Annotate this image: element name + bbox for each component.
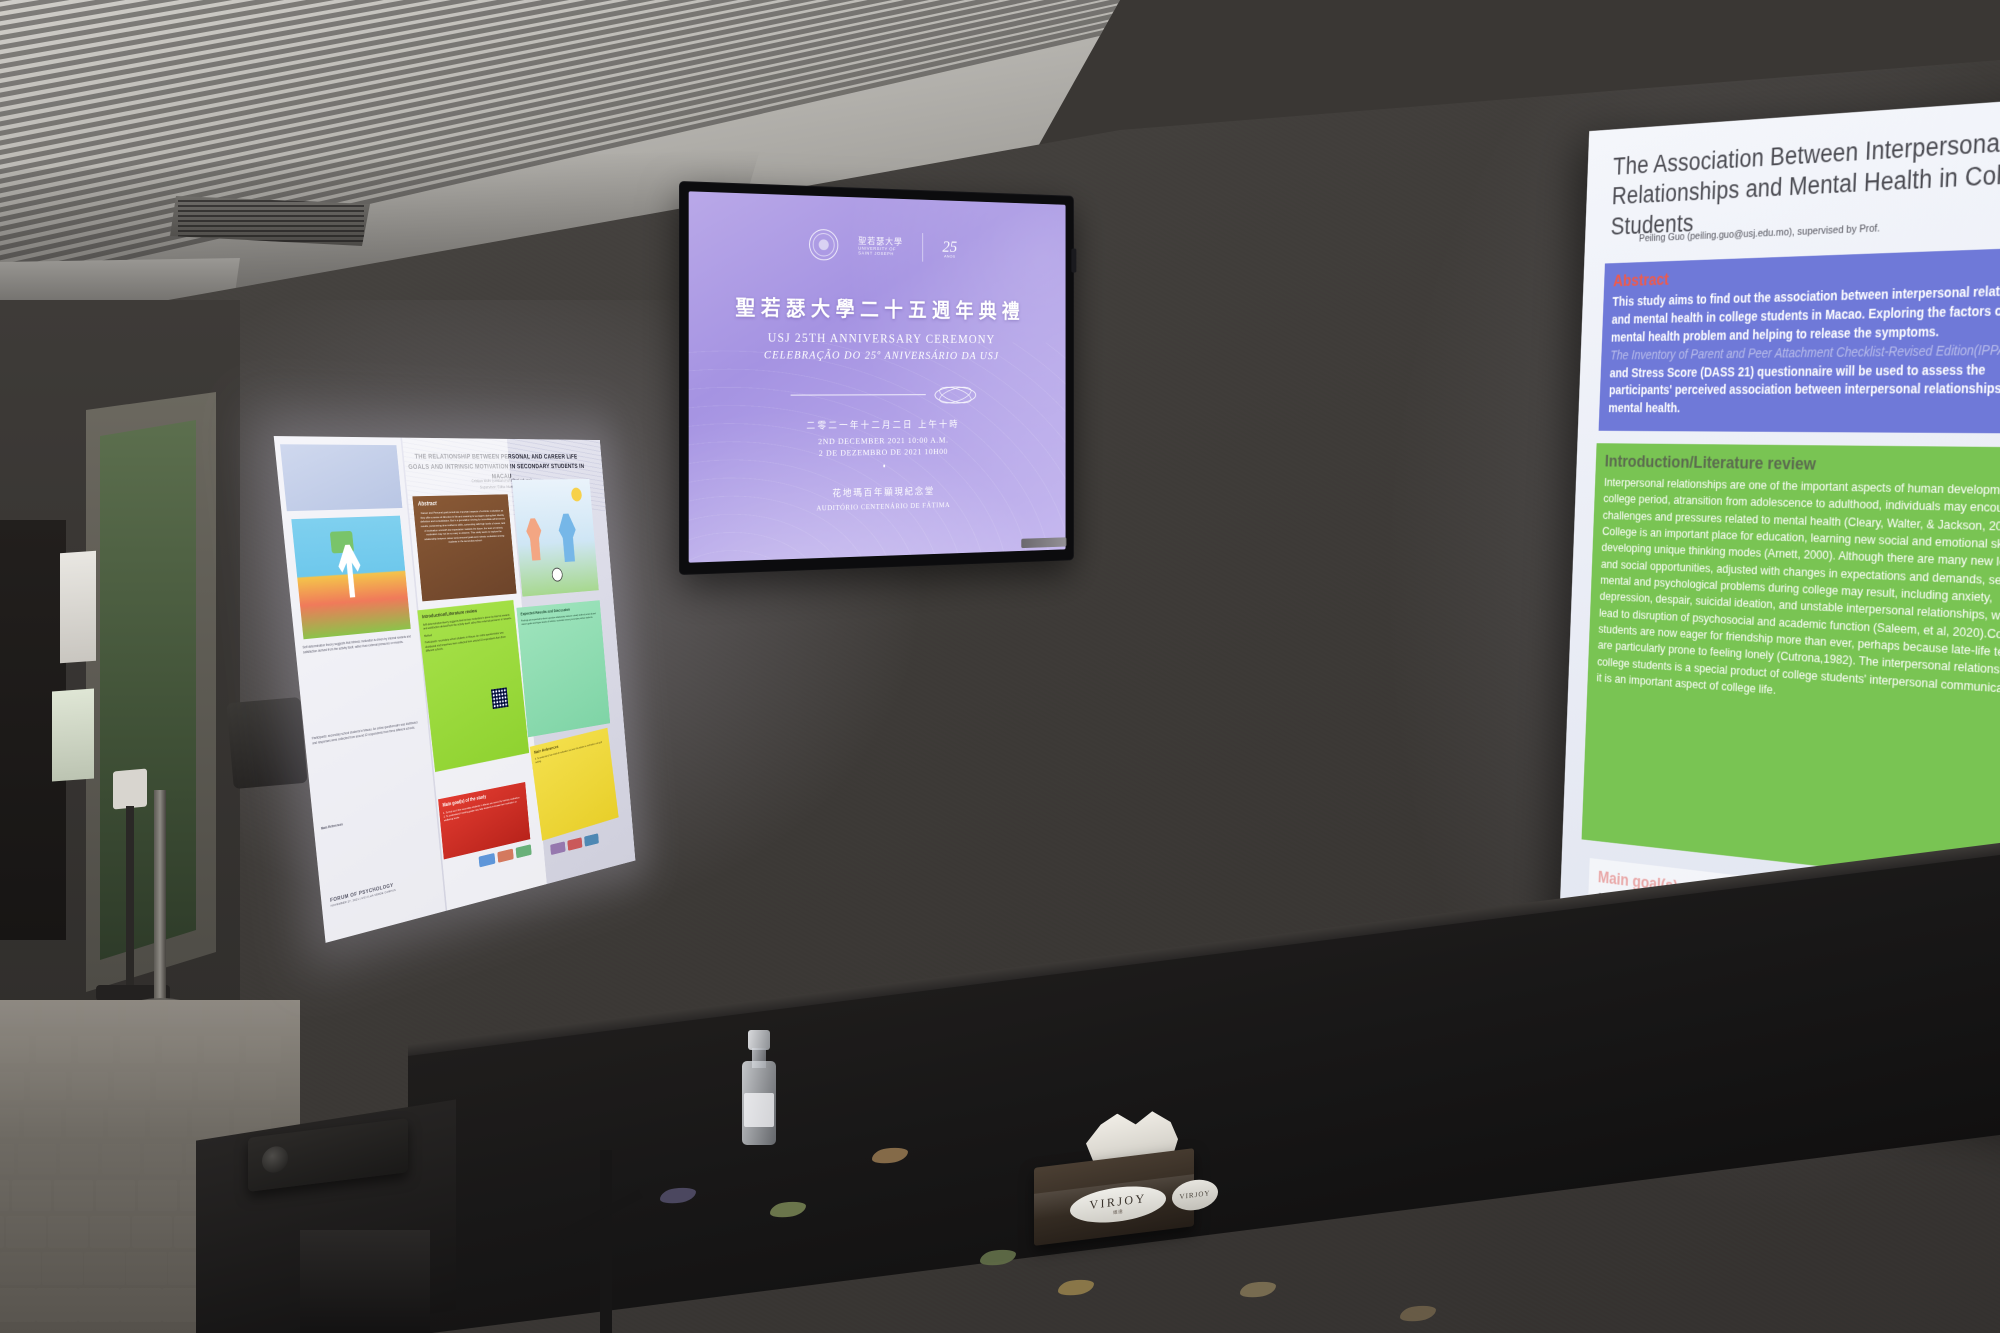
bottle-cap <box>748 1030 770 1050</box>
person-celebrating-illustration <box>291 516 410 640</box>
green-square-icon <box>330 531 354 554</box>
floor-tile <box>84 1000 118 1026</box>
floor-tile <box>6 1216 46 1248</box>
slide-title-en: USJ 25TH ANNIVERSARY CEREMONY <box>689 330 1066 347</box>
tv-brand-badge <box>1021 537 1066 548</box>
floor-tile <box>114 1072 150 1100</box>
floor-tile <box>156 1072 192 1100</box>
usj-seal-icon <box>809 229 838 261</box>
floor-tile <box>138 1180 177 1211</box>
floor-tile <box>0 1072 24 1100</box>
tissue-brand-sub: 維達 <box>1113 1208 1123 1215</box>
anniversary-badge: 25 ANOS <box>942 238 957 258</box>
slide-date-cn: 二零二一年十二月二日 上午十時 <box>689 416 1066 433</box>
wall-speaker <box>226 697 307 789</box>
floor-tile <box>18 1144 56 1174</box>
floor-tile <box>0 1036 29 1063</box>
children-playing-illustration <box>512 479 599 597</box>
slide-date-block: 二零二一年十二月二日 上午十時 2ND DECEMBER 2021 10:00 … <box>689 416 1066 470</box>
floor-tile <box>102 1144 140 1174</box>
divider-rule <box>791 394 926 395</box>
bottle-label <box>744 1093 774 1127</box>
usj-name-en-2: SAINT JOSEPH <box>858 251 903 257</box>
floor-tile <box>0 1216 4 1248</box>
logo-icon-6 <box>584 833 599 846</box>
room-scene: THE RELATIONSHIP BETWEEN PERSONAL AND CA… <box>0 0 2000 1333</box>
right-abstract-body-2: and Stress Score (DASS 21) questionnaire… <box>1608 360 2000 419</box>
slide-title-cn: 聖若瑟大學二十五週年典禮 <box>689 291 1066 325</box>
football-icon <box>551 567 563 582</box>
tv-screen[interactable]: 聖若瑟大學 UNIVERSITY OF SAINT JOSEPH 25 ANOS… <box>689 191 1066 562</box>
vent-louver <box>178 235 364 237</box>
floor-tile <box>240 1072 276 1100</box>
slide-divider <box>689 386 1066 403</box>
stanchion-post <box>154 790 166 1005</box>
floor-tile <box>0 1144 14 1174</box>
flourish-ornament-icon <box>935 386 975 401</box>
floor-tile <box>0 1252 41 1285</box>
hand-sanitizer-bottle[interactable] <box>742 1030 776 1145</box>
wall-mounted-tv[interactable]: 聖若瑟大學 UNIVERSITY OF SAINT JOSEPH 25 ANOS… <box>680 182 1073 574</box>
child-figure-1 <box>525 518 544 561</box>
vent-louver <box>178 230 364 232</box>
floor-tile <box>78 1288 120 1322</box>
floor-tile <box>0 1108 19 1137</box>
poster-intro-panel: Introduction/Literature review Self dete… <box>417 600 529 772</box>
floor-tile <box>36 1036 71 1063</box>
floor-tile <box>90 1216 130 1248</box>
child-figure-2 <box>557 513 578 562</box>
floor-tile <box>192 1108 229 1137</box>
floor-tile <box>78 1036 113 1063</box>
logo-divider <box>922 233 923 262</box>
usj-wordmark: 聖若瑟大學 UNIVERSITY OF SAINT JOSEPH <box>858 236 903 257</box>
floor-tile <box>162 1036 197 1063</box>
floor-tile <box>48 1216 88 1248</box>
sanitizer-dispenser[interactable] <box>113 769 147 810</box>
floor-tile <box>24 1108 61 1137</box>
anniversary-number: 25 <box>942 238 957 255</box>
floor-tile <box>96 1180 135 1211</box>
right-abstract-panel: Abstract This study aims to find out the… <box>1599 246 2000 434</box>
vent-louver <box>178 210 364 212</box>
floor-tile <box>168 1000 202 1026</box>
anniversary-sub: ANOS <box>942 254 957 258</box>
tv-side-connector <box>1071 248 1076 272</box>
floor-tile <box>72 1072 108 1100</box>
floor-tile <box>0 1180 9 1211</box>
floor-tile <box>0 1288 36 1322</box>
sponsor-logos-row-2 <box>550 833 599 855</box>
poster-results-panel: Expected Results and Discussion Findings… <box>516 600 610 737</box>
vent-louver <box>178 205 364 207</box>
slide-title-pt: CELEBRAÇÃO DO 25º ANIVERSÁRIO DA USJ <box>689 349 1066 362</box>
dispenser-pole <box>126 806 134 996</box>
right-intro-panel: Introduction/Literature review Interpers… <box>1582 443 2000 892</box>
floor-tile <box>66 1108 103 1137</box>
chair[interactable] <box>300 1230 430 1333</box>
logo-icon-4 <box>550 841 565 855</box>
floor-tile <box>204 1036 239 1063</box>
floor-tile <box>126 1000 160 1026</box>
floor-tile <box>144 1144 182 1174</box>
floor-tile <box>0 1000 34 1026</box>
poster-blue-header-block <box>280 444 402 511</box>
projected-poster-left: THE RELATIONSHIP BETWEEN PERSONAL AND CA… <box>274 436 636 943</box>
logo-icon-5 <box>567 837 582 851</box>
floor-tile <box>42 1000 76 1026</box>
floor-tile <box>42 1252 83 1285</box>
vent-louver <box>178 215 364 217</box>
floor-tile <box>210 1000 244 1026</box>
floor-tile <box>150 1108 187 1137</box>
floor-tile <box>30 1072 66 1100</box>
green-door[interactable] <box>100 420 196 960</box>
poster-references-panel: Main References 3. To understand how lev… <box>530 728 619 841</box>
vent-louver <box>178 225 364 227</box>
wall-notice-1 <box>60 551 96 664</box>
right-intro-body: Interpersonal relationships are one of t… <box>1596 474 2000 719</box>
abstract-body: Career and Personal goal pursuit are imp… <box>419 509 508 546</box>
floor-tile <box>60 1144 98 1174</box>
sun-icon <box>571 488 583 502</box>
floor-tile <box>54 1180 93 1211</box>
right-abstract-body-1: This study aims to find out the associat… <box>1611 280 2000 346</box>
floor-tile <box>132 1216 172 1248</box>
poster-abstract-panel: Abstract Career and Personal goal pursui… <box>412 494 516 601</box>
vent-louver <box>178 220 364 222</box>
wall-notice-2 <box>52 689 94 782</box>
floor-tile <box>120 1288 162 1322</box>
floor-tile <box>84 1252 125 1285</box>
abstract-heading: Abstract <box>418 500 505 508</box>
floor-tile <box>246 1036 281 1063</box>
slide-title-block: 聖若瑟大學二十五週年典禮 USJ 25TH ANNIVERSARY CEREMO… <box>689 291 1066 362</box>
floor-tile <box>120 1036 155 1063</box>
floor-tile <box>36 1288 78 1322</box>
floor-tile <box>108 1108 145 1137</box>
bullet-dot-icon <box>883 464 885 467</box>
floor-tile <box>126 1252 167 1285</box>
qr-code-icon[interactable] <box>491 687 508 709</box>
floor-tile <box>198 1072 234 1100</box>
floor-tile <box>252 1000 286 1026</box>
table-leg-1 <box>600 1150 612 1333</box>
floor-tile <box>12 1180 51 1211</box>
